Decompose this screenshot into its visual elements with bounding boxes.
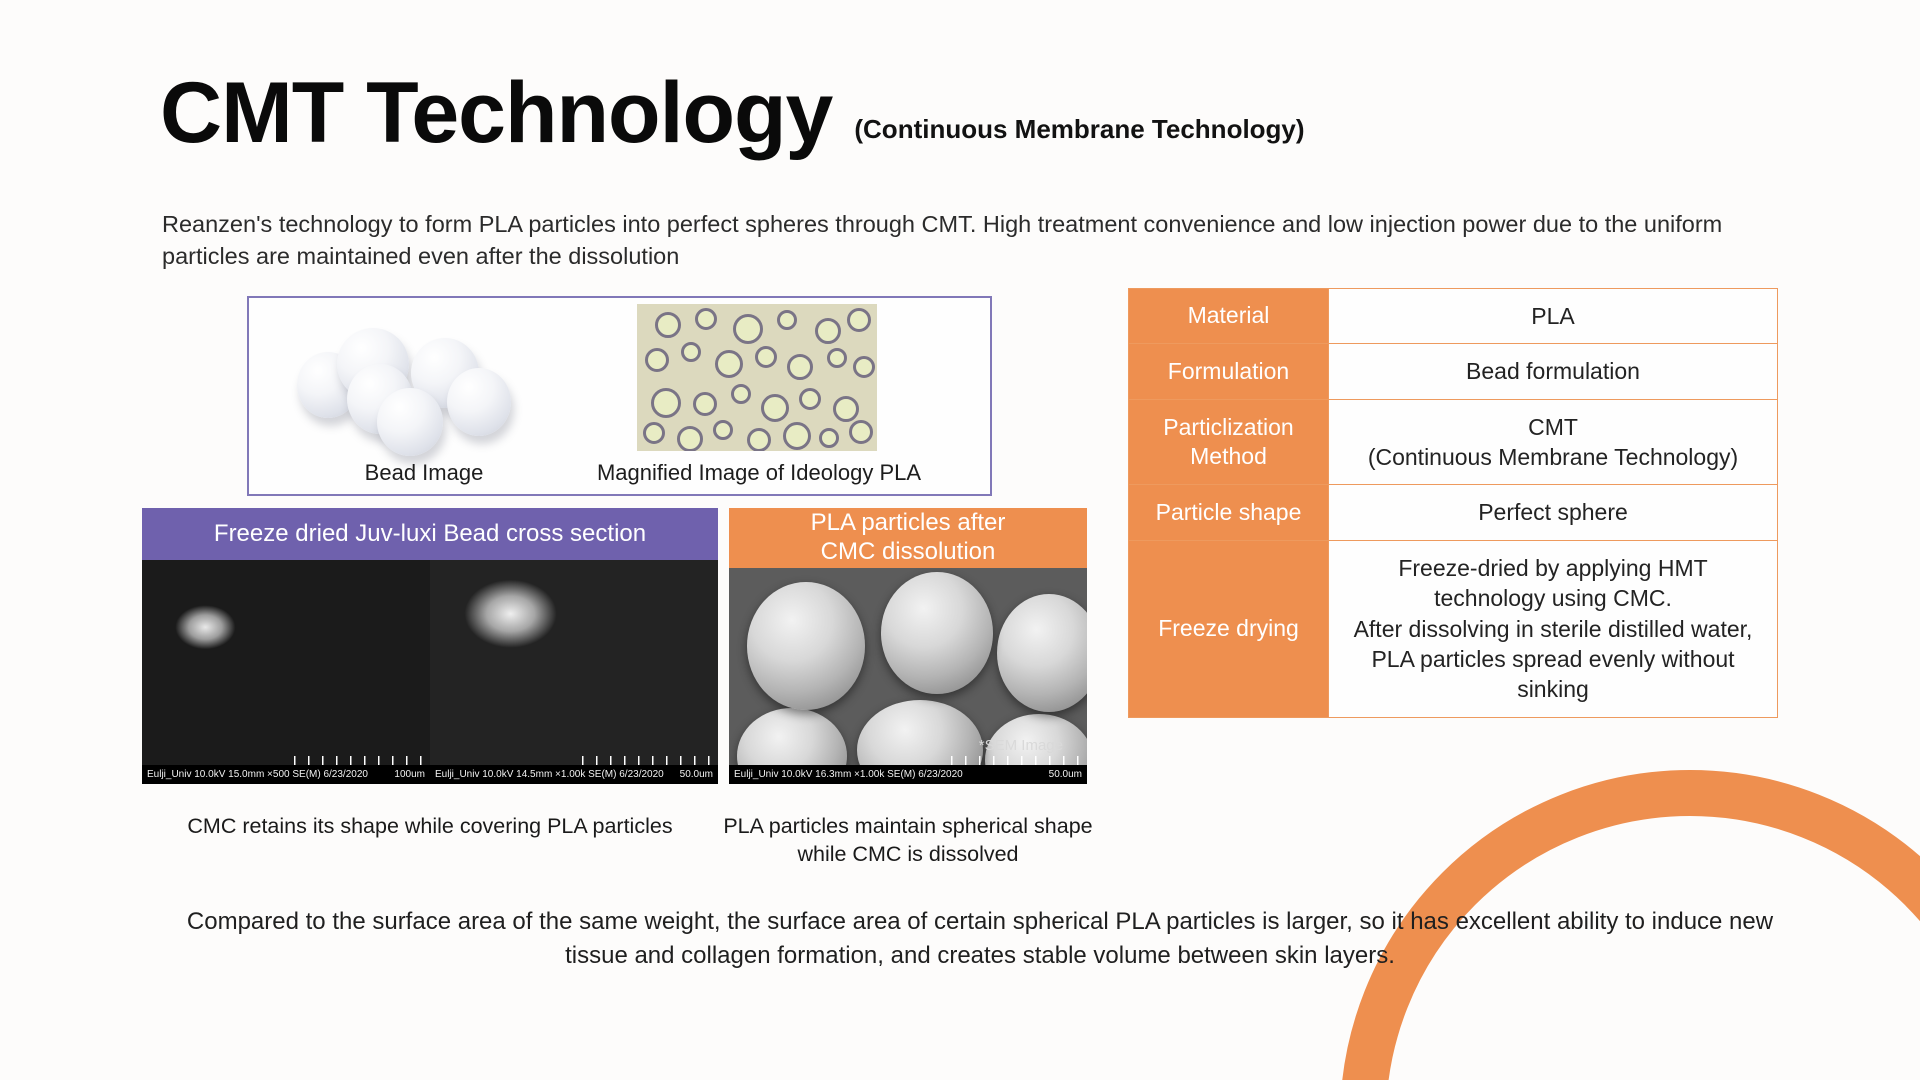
sem-left-metadata-1-scale: 100um (394, 769, 425, 780)
spec-value-4: Freeze-dried by applying HMT technology … (1329, 540, 1778, 717)
magnified-pla-micrograph (637, 304, 877, 451)
sem-panel-right: PLA particles after CMC dissolution *SEM… (729, 508, 1087, 784)
spec-key-3: Particle shape (1129, 485, 1329, 540)
spec-table: MaterialPLAFormulationBead formulationPa… (1128, 288, 1778, 718)
bead-image-panel: Bead Image Magnified Image of Ideology P… (247, 296, 992, 496)
spec-value-1: Bead formulation (1329, 344, 1778, 399)
bead-illustration (291, 310, 541, 450)
sem-right-caption: PLA particles maintain spherical shape w… (722, 812, 1094, 869)
lead-paragraph: Reanzen's technology to form PLA particl… (162, 208, 1772, 272)
spec-key-1: Formulation (1129, 344, 1329, 399)
spec-value-3: Perfect sphere (1329, 485, 1778, 540)
spec-table-row: Particle shapePerfect sphere (1129, 485, 1778, 540)
sem-right-metadata-text: Eulji_Univ 10.0kV 16.3mm ×1.00k SE(M) 6/… (734, 769, 963, 780)
magnified-image-caption: Magnified Image of Ideology PLA (579, 460, 939, 486)
scale-ticks-icon (294, 756, 424, 765)
sem-left-header: Freeze dried Juv-luxi Bead cross section (142, 508, 718, 560)
bead-image-caption: Bead Image (309, 460, 539, 486)
slide-root: CMT Technology (Continuous Membrane Tech… (0, 0, 1920, 1080)
footer-note: Compared to the surface area of the same… (180, 905, 1780, 973)
page-title: CMT Technology (160, 70, 832, 156)
sem-right-header-line2: CMC dissolution (811, 538, 1006, 567)
sem-right-header: PLA particles after CMC dissolution (729, 508, 1087, 568)
sem-left-metadata-2-scale: 50.0um (680, 769, 713, 780)
sem-image-note: *SEM Image (979, 737, 1063, 754)
spec-value-0: PLA (1329, 289, 1778, 344)
spec-key-0: Material (1129, 289, 1329, 344)
sem-left-metadata-2: Eulji_Univ 10.0kV 14.5mm ×1.00k SE(M) 6/… (430, 765, 718, 784)
page-title-row: CMT Technology (Continuous Membrane Tech… (160, 70, 1305, 156)
sem-right-metadata-scale: 50.0um (1049, 769, 1082, 780)
scale-ticks-icon (582, 756, 712, 765)
spec-table-row: FormulationBead formulation (1129, 344, 1778, 399)
sem-right-header-line1: PLA particles after (811, 509, 1006, 538)
spec-table-row: ParticlizationMethodCMT(Continuous Membr… (1129, 399, 1778, 485)
sem-left-metadata-1-text: Eulji_Univ 10.0kV 15.0mm ×500 SE(M) 6/23… (147, 769, 368, 780)
sem-right-metadata: Eulji_Univ 10.0kV 16.3mm ×1.00k SE(M) 6/… (729, 765, 1087, 784)
sem-left-metadata-1: Eulji_Univ 10.0kV 15.0mm ×500 SE(M) 6/23… (142, 765, 430, 784)
spec-table-row: MaterialPLA (1129, 289, 1778, 344)
sem-right-image: *SEM Image Eulji_Univ 10.0kV 16.3mm ×1.0… (729, 568, 1087, 784)
spec-key-2: ParticlizationMethod (1129, 399, 1329, 485)
sem-panel-left: Freeze dried Juv-luxi Bead cross section… (142, 508, 718, 784)
sem-left-caption: CMC retains its shape while covering PLA… (128, 812, 732, 840)
spec-table-row: Freeze dryingFreeze-dried by applying HM… (1129, 540, 1778, 717)
sem-left-image-2: Eulji_Univ 10.0kV 14.5mm ×1.00k SE(M) 6/… (430, 560, 718, 784)
spec-key-4: Freeze drying (1129, 540, 1329, 717)
scale-ticks-icon (951, 756, 1081, 765)
page-subtitle: (Continuous Membrane Technology) (854, 114, 1304, 156)
sem-left-image-1: Eulji_Univ 10.0kV 15.0mm ×500 SE(M) 6/23… (142, 560, 430, 784)
spec-value-2: CMT(Continuous Membrane Technology) (1329, 399, 1778, 485)
sem-left-metadata-2-text: Eulji_Univ 10.0kV 14.5mm ×1.00k SE(M) 6/… (435, 769, 664, 780)
